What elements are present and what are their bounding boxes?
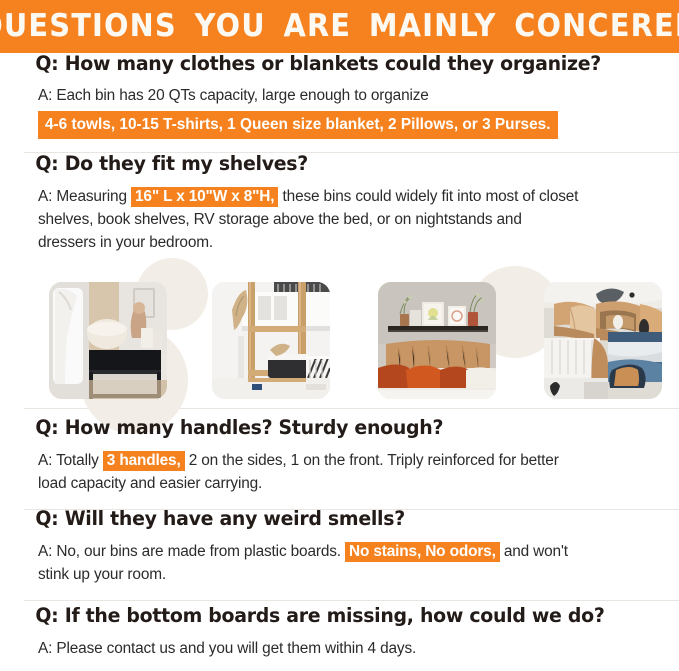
bed-headboard-shelf-photo — [378, 282, 496, 399]
faq-answer-4-line2: stink up your room. — [14, 563, 679, 586]
faq-answer-4-pre: A: No, our bins are made from plastic bo… — [38, 543, 345, 560]
faq-answer-1-line1: A: Each bin has 20 QTs capacity, large e… — [14, 84, 679, 107]
faq-item-2: Q: Do they fit my shelves? A: Measuring … — [0, 153, 679, 409]
faq-question-1: Q: How many clothes or blankets could th… — [14, 53, 673, 75]
rv-overhead-storage-photo — [544, 282, 662, 399]
faq-item-1: Q: How many clothes or blankets could th… — [0, 53, 679, 153]
faq-answer-3-pre: A: Totally — [38, 452, 103, 469]
shelving-unit-photo — [212, 282, 330, 399]
faq-answer-3-line1: A: Totally 3 handles, 2 on the sides, 1 … — [14, 449, 679, 472]
page-title: QUESTIONS YOU ARE MAINLY CONCERED — [0, 11, 679, 42]
faq-answer-2-line1: A: Measuring 16" L x 10"W x 8"H, these b… — [14, 185, 679, 208]
faq-answer-4-line1: A: No, our bins are made from plastic bo… — [14, 540, 679, 563]
faq-answer-2-pre: A: Measuring — [38, 188, 131, 205]
page-header-banner: QUESTIONS YOU ARE MAINLY CONCERED — [0, 0, 679, 53]
faq-question-4: Q: Will they have any weird smells? — [14, 508, 673, 530]
faq-item-3: Q: How many handles? Sturdy enough? A: T… — [0, 417, 679, 510]
faq-item-5: Q: If the bottom boards are missing, how… — [0, 605, 679, 660]
faq-answer-3-post: 2 on the sides, 1 on the front. Triply r… — [185, 452, 559, 469]
faq-item-4: Q: Will they have any weird smells? A: N… — [0, 508, 679, 601]
faq-highlight-dimensions: 16" L x 10"W x 8"H, — [131, 187, 278, 207]
section-divider-4 — [24, 600, 679, 601]
faq-question-5: Q: If the bottom boards are missing, how… — [14, 605, 673, 627]
faq-content: Q: How many clothes or blankets could th… — [0, 53, 679, 671]
faq-answer-5: A: Please contact us and you will get th… — [14, 637, 679, 660]
faq-highlight-capacity: 4-6 towls, 10-15 T-shirts, 1 Queen size … — [38, 111, 558, 139]
faq-answer-2-line3: dressers in your bedroom. — [14, 231, 679, 254]
faq-question-2: Q: Do they fit my shelves? — [14, 153, 673, 175]
faq-highlight-odors: No stains, No odors, — [345, 542, 500, 562]
bedroom-nightstand-photo — [49, 282, 167, 399]
faq-answer-4-post: and won't — [500, 543, 568, 560]
faq-answer-2-line2: shelves, book shelves, RV storage above … — [14, 208, 679, 231]
faq-highlight-handles: 3 handles, — [103, 451, 185, 471]
faq-answer-2-post: these bins could widely fit into most of… — [278, 188, 578, 205]
faq-answer-1-highlight-wrap: 4-6 towls, 10-15 T-shirts, 1 Queen size … — [14, 111, 679, 139]
faq-answer-3-line2: load capacity and easier carrying. — [14, 472, 679, 495]
faq-question-3: Q: How many handles? Sturdy enough? — [14, 417, 673, 439]
lifestyle-photo-gallery — [14, 264, 679, 404]
